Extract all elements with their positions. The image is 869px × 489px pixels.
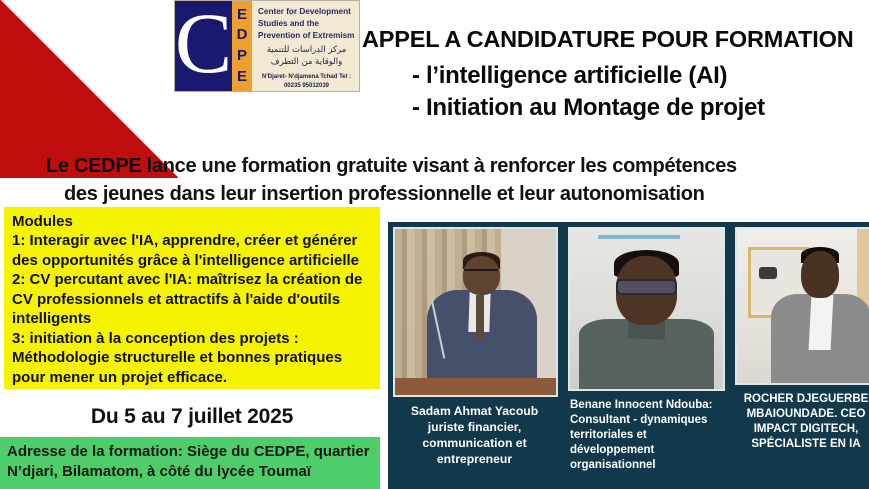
modules-box: Modules 1: Interagir avec l'IA, apprendr… bbox=[4, 207, 380, 389]
poster-canvas: C E D P E Center for Development Studies… bbox=[0, 0, 869, 489]
speaker-photo-2 bbox=[568, 227, 725, 391]
module-item-2: 2: CV percutant avec l'IA: maîtrisez la … bbox=[12, 270, 372, 329]
logo-letter-p: P bbox=[237, 46, 247, 67]
module-item-1: 1: Interagir avec l'IA, apprendre, créer… bbox=[12, 231, 372, 270]
page-title: APPEL A CANDIDATURE POUR FORMATION bbox=[362, 26, 862, 53]
training-dates: Du 5 au 7 juillet 2025 bbox=[4, 405, 380, 429]
speaker-photo-1 bbox=[393, 227, 558, 397]
photo1-tie bbox=[476, 295, 484, 338]
intro-line-2: des jeunes dans leur insertion professio… bbox=[46, 180, 836, 208]
speaker-caption-1: Sadam Ahmat Yacoub juriste financier, co… bbox=[393, 397, 558, 467]
subtitle-line-1: - l’intelligence artificielle (AI) bbox=[412, 60, 867, 92]
speaker-card-1: Sadam Ahmat Yacoub juriste financier, co… bbox=[393, 227, 558, 489]
modules-heading: Modules bbox=[12, 212, 372, 231]
address-box: Adresse de la formation: Siège du CEDPE,… bbox=[0, 437, 380, 489]
speakers-list: Sadam Ahmat Yacoub juriste financier, co… bbox=[388, 222, 869, 489]
speaker-caption-3: ROCHER DJEGUERBE MBAIOUNDADE. CEO IMPACT… bbox=[735, 385, 869, 452]
intro-line-1: Le CEDPE lance une formation gratuite vi… bbox=[46, 155, 737, 177]
speaker-card-3: ROCHER DJEGUERBE MBAIOUNDADE. CEO IMPACT… bbox=[735, 227, 869, 489]
logo-name-english: Center for Development Studies and the P… bbox=[258, 6, 355, 42]
speaker-photo-3 bbox=[735, 227, 869, 385]
photo1-glasses bbox=[464, 269, 498, 277]
subtitle-line-2: - Initiation au Montage de projet bbox=[412, 92, 867, 124]
logo-name-arabic: مركز الدراسات للتنمية والوقاية من التطرف bbox=[258, 44, 355, 69]
logo-text-panel: Center for Development Studies and the P… bbox=[252, 1, 359, 91]
cedpe-logo: C E D P E Center for Development Studies… bbox=[174, 0, 360, 92]
photo1-podium bbox=[395, 378, 556, 395]
logo-letter-d: D bbox=[237, 25, 248, 46]
module-item-3: 3: initiation à la conception des projet… bbox=[12, 329, 372, 388]
logo-monogram-c: C bbox=[175, 1, 232, 91]
speaker-caption-2: Benane Innocent Ndouba: Consultant - dyn… bbox=[568, 391, 725, 473]
photo2-wall-strip bbox=[598, 235, 681, 239]
logo-letters-column: E D P E bbox=[232, 1, 252, 91]
speakers-panel: Sadam Ahmat Yacoub juriste financier, co… bbox=[388, 222, 869, 489]
logo-letter-e1: E bbox=[237, 5, 247, 26]
photo2-glasses bbox=[616, 279, 677, 295]
intro-paragraph: Le CEDPE lance une formation gratuite vi… bbox=[46, 152, 836, 209]
photo3-shirt bbox=[808, 295, 833, 350]
page-subtitle: - l’intelligence artificielle (AI) - Ini… bbox=[412, 60, 867, 123]
logo-letter-e2: E bbox=[237, 67, 247, 88]
speaker-card-2: Benane Innocent Ndouba: Consultant - dyn… bbox=[568, 227, 725, 489]
photo3-framed-artwork bbox=[759, 267, 777, 279]
logo-contact: N'Djaret- N'djamena Tchad Tel : 00235 95… bbox=[258, 73, 355, 91]
photo3-face bbox=[801, 251, 839, 299]
